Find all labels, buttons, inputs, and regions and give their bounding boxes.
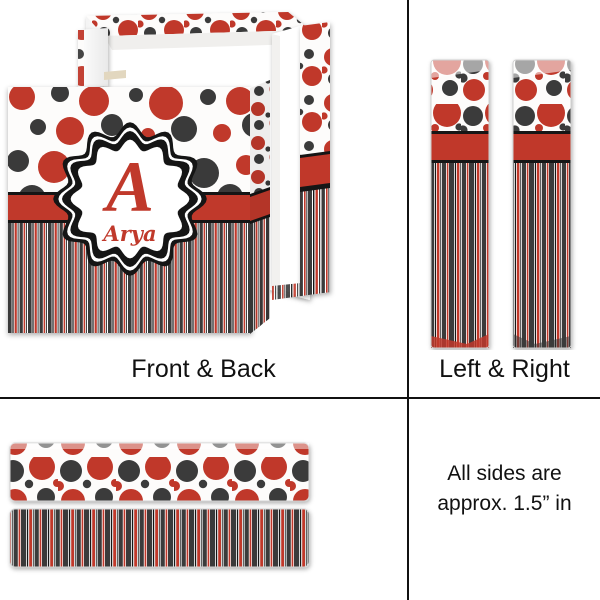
strip-right [513,60,571,348]
divider-horizontal [0,397,600,399]
panel-left-right: Left & Right [409,0,600,397]
panel-size-note: All sides are approx. 1.5” in [409,399,600,600]
front-panel-side-edge [250,66,290,336]
front-panel: A Arya [8,87,252,333]
panel-front-back: A Arya [0,0,407,397]
divider-vertical-bottom [407,399,409,600]
bar-top [10,443,309,501]
panel-top-bottom: Top & Bottom [0,399,407,600]
mockup-canvas: A Arya [0,0,600,600]
scallop-shape [50,119,210,279]
side-strips-illustration [409,0,600,350]
top-bottom-bars-illustration [0,399,407,600]
monogram-badge: A Arya [50,119,210,279]
divider-vertical-top [407,0,409,398]
size-note-text: All sides are approx. 1.5” in [419,459,590,519]
bar-bottom [10,509,309,567]
strip-left [431,60,489,348]
caption-front-back: Front & Back [0,355,407,384]
caption-left-right: Left & Right [409,355,600,384]
